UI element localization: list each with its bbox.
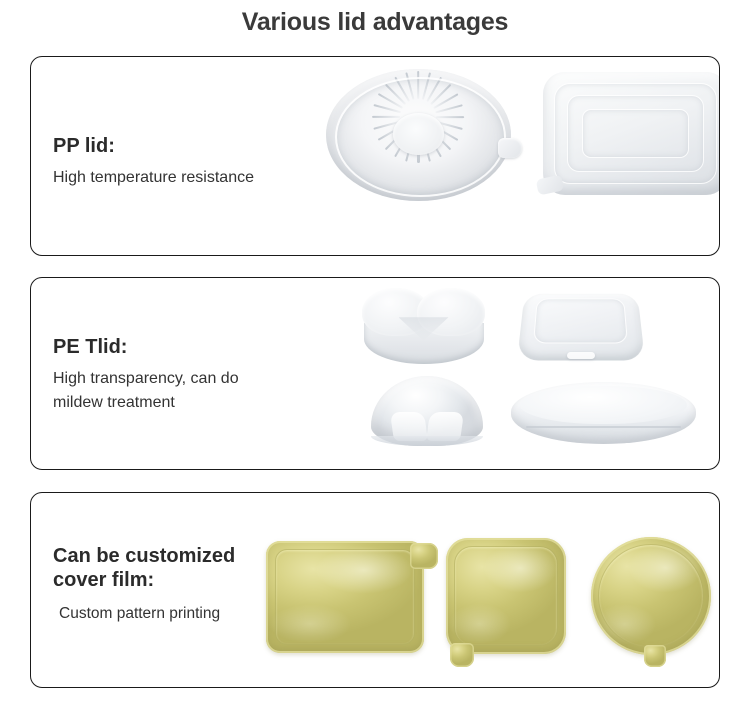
- gold-rect-sheen: [266, 541, 424, 653]
- pp-lid-subtitle: High temperature resistance: [53, 166, 254, 190]
- rect-lid-ridge-middle: [567, 95, 704, 171]
- page-title: Various lid advantages: [0, 8, 750, 37]
- oval-lid-body: [511, 382, 696, 444]
- gold-rect-tab: [410, 543, 438, 569]
- rect-lid-ridge-inner: [582, 109, 689, 158]
- round-lid-body: [326, 69, 511, 201]
- round-lid-tab: [498, 138, 522, 158]
- round-pp-lid-image: [326, 69, 511, 201]
- panel-pp-lid: PP lid: High temperature resistance: [30, 56, 720, 256]
- dome-lid-lip: [371, 436, 483, 446]
- panel-pe-lid: PE Tlid: High transparency, can do milde…: [30, 277, 720, 470]
- cover-film-heading: Can be customized cover film:: [53, 545, 235, 592]
- cover-film-text-block: Can be customized cover film: Custom pat…: [53, 545, 235, 625]
- round-lid-rim: [335, 77, 506, 197]
- gold-circle-emboss: [598, 544, 704, 648]
- round-lid-center-hub: [393, 113, 445, 155]
- pe-lid-heading: PE Tlid:: [53, 336, 239, 360]
- dome-lid-cap: [371, 376, 483, 446]
- gold-rect-emboss: [275, 549, 414, 645]
- rectangular-gold-foil-lid-image: [266, 541, 424, 653]
- gold-circle-plate: [591, 537, 711, 655]
- dome-pe-lid-image: [371, 376, 483, 446]
- pe-lid-text-block: PE Tlid: High transparency, can do milde…: [53, 336, 239, 415]
- rect-lid-ridge-outer: [554, 83, 717, 184]
- gold-square-sheen: [446, 538, 566, 654]
- gold-square-plate: [446, 538, 566, 654]
- rect-lid-tab: [536, 174, 565, 195]
- square-gold-foil-lid-image: [446, 538, 566, 654]
- gold-square-emboss: [454, 546, 557, 646]
- gold-square-tab: [450, 643, 474, 667]
- square-lid-body: [517, 294, 645, 361]
- dome-lid-facet-right: [426, 412, 464, 441]
- cover-film-subtitle: Custom pattern printing: [53, 602, 235, 625]
- heart-lid-lobe-left: [362, 288, 430, 336]
- gold-circle-tab: [644, 645, 666, 667]
- heart-lid-lobe-right: [417, 288, 485, 336]
- heart-shaped-pe-lid-image: [361, 286, 486, 364]
- pe-lid-subtitle: High transparency, can do mildew treatme…: [53, 367, 239, 415]
- oval-lid-top-face: [520, 386, 687, 424]
- square-lid-inner-panel: [533, 299, 628, 344]
- gold-circle-sheen: [591, 537, 711, 655]
- rectangular-pp-lid-image: [543, 72, 720, 195]
- panel-cover-film: Can be customized cover film: Custom pat…: [30, 492, 720, 688]
- oval-lid-seam: [526, 426, 681, 428]
- dome-lid-facet-left: [390, 412, 428, 441]
- pp-lid-text-block: PP lid: High temperature resistance: [53, 135, 254, 190]
- round-lid-ribs: [326, 69, 511, 201]
- square-pe-lid-image: [521, 288, 641, 362]
- gold-rect-plate: [266, 541, 424, 653]
- heart-lid-cleft: [399, 317, 449, 340]
- heart-lid-base: [364, 323, 484, 364]
- rect-lid-body: [543, 72, 720, 195]
- circular-gold-foil-lid-image: [591, 537, 711, 655]
- pp-lid-heading: PP lid:: [53, 135, 254, 159]
- oval-pe-lid-image: [511, 382, 696, 444]
- square-lid-notch: [567, 352, 596, 359]
